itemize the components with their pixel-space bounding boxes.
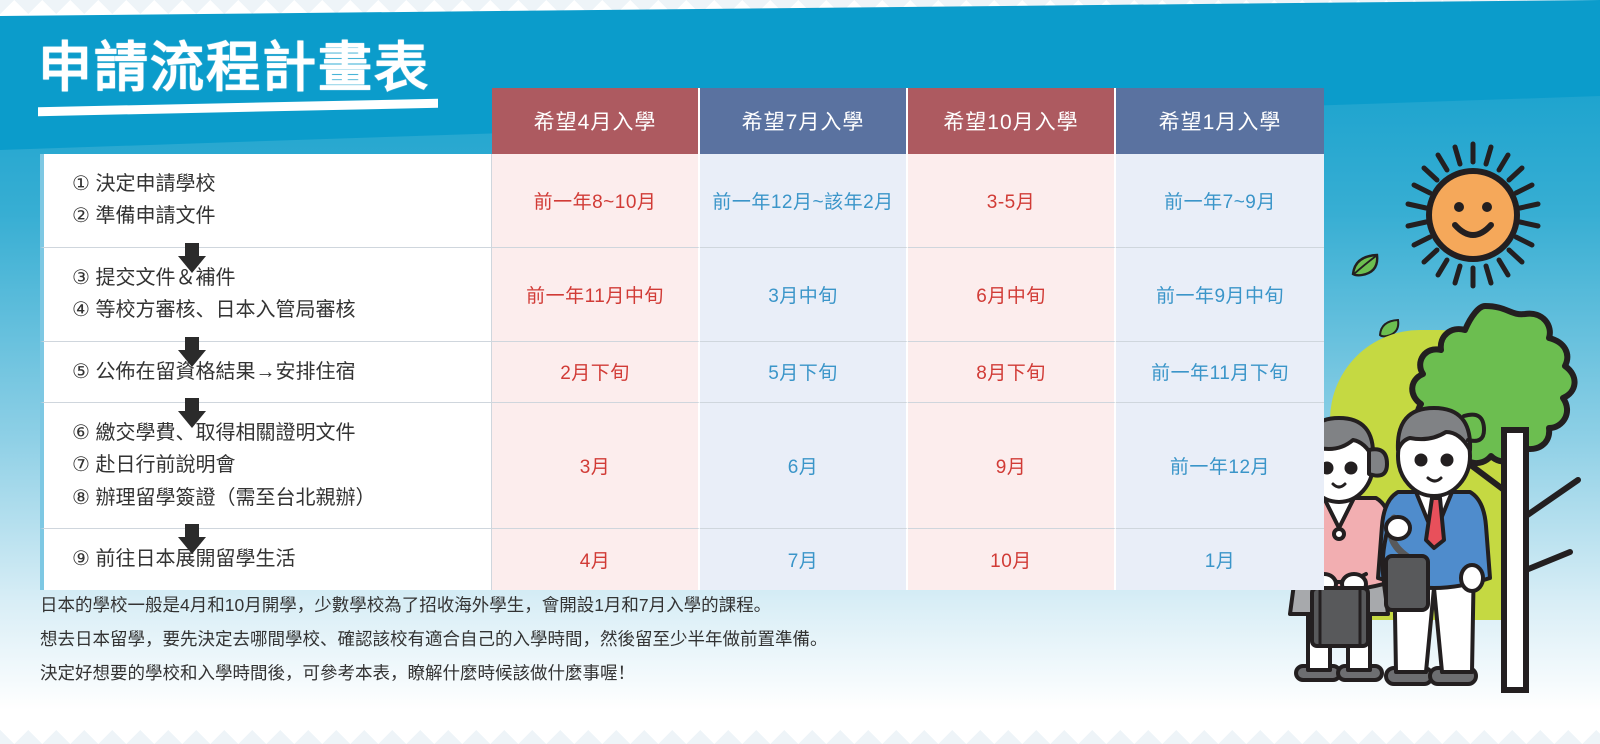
schedule-cell: 3-5月: [908, 154, 1116, 248]
schedule-cell: 前一年7~9月: [1116, 154, 1324, 248]
footnote-line-2: 想去日本留學，要先決定去哪間學校、確認該校有適合自己的入學時間，然後留至少半年做…: [40, 622, 1270, 656]
schedule-cell: 8月下旬: [908, 342, 1116, 403]
step-column-header: [40, 88, 492, 154]
column-header-october: 希望10月入學: [908, 88, 1116, 154]
schedule-cell: 9月: [908, 403, 1116, 529]
schedule-cell: 6月中旬: [908, 248, 1116, 342]
table-row: ⑤ 公佈在留資格結果→安排住宿 2月下旬 5月下旬 8月下旬 前一年11月下旬: [40, 342, 1324, 403]
footnote-block: 日本的學校一般是4月和10月開學，少數學校為了招收海外學生，會開設1月和7月入學…: [40, 588, 1270, 690]
schedule-cell: 5月下旬: [700, 342, 908, 403]
schedule-cell: 10月: [908, 529, 1116, 589]
schedule-cell: 6月: [700, 403, 908, 529]
schedule-cell: 前一年12月: [1116, 403, 1324, 529]
bottom-triangle-pattern: [0, 718, 1600, 744]
application-schedule-table: 希望4月入學 希望7月入學 希望10月入學 希望1月入學 ① 決定申請學校 ② …: [40, 88, 1324, 590]
step-cell: ③ 提交文件＆補件 ④ 等校方審核、日本入管局審核: [40, 248, 492, 342]
schedule-cell: 7月: [700, 529, 908, 589]
schedule-cell: 前一年9月中旬: [1116, 248, 1324, 342]
schedule-cell: 前一年12月~該年2月: [700, 154, 908, 248]
sun-icon: [1398, 140, 1548, 290]
step-cell: ⑤ 公佈在留資格結果→安排住宿: [40, 342, 492, 403]
schedule-cell: 4月: [492, 529, 700, 589]
column-header-july: 希望7月入學: [700, 88, 908, 154]
step-cell: ① 決定申請學校 ② 準備申請文件: [40, 154, 492, 248]
step-cell: ⑨ 前往日本展開留學生活: [40, 529, 492, 589]
column-header-january: 希望1月入學: [1116, 88, 1324, 154]
schedule-cell: 2月下旬: [492, 342, 700, 403]
leaf-icon: [1350, 252, 1380, 278]
column-header-april: 希望4月入學: [492, 88, 700, 154]
schedule-cell: 3月: [492, 403, 700, 529]
table-row: ③ 提交文件＆補件 ④ 等校方審核、日本入管局審核 前一年11月中旬 3月中旬 …: [40, 248, 1324, 342]
schedule-cell: 1月: [1116, 529, 1324, 589]
footnote-line-1: 日本的學校一般是4月和10月開學，少數學校為了招收海外學生，會開設1月和7月入學…: [40, 588, 1270, 622]
table-header-row: 希望4月入學 希望7月入學 希望10月入學 希望1月入學: [40, 88, 1324, 154]
footnote-line-3: 決定好想要的學校和入學時間後，可參考本表，瞭解什麼時候該做什麼事喔！: [40, 656, 1270, 690]
table-row: ⑨ 前往日本展開留學生活 4月 7月 10月 1月: [40, 529, 1324, 589]
schedule-cell: 前一年8~10月: [492, 154, 700, 248]
table-row: ① 決定申請學校 ② 準備申請文件 前一年8~10月 前一年12月~該年2月 3…: [40, 154, 1324, 248]
schedule-cell: 3月中旬: [700, 248, 908, 342]
schedule-cell: 前一年11月下旬: [1116, 342, 1324, 403]
poster-root: 申請流程計畫表 , 希望4月入學 希望7月入學 希望10月入學 希望1月入學 ①…: [0, 0, 1600, 744]
application-schedule-table-wrapper: 希望4月入學 希望7月入學 希望10月入學 希望1月入學 ① 決定申請學校 ② …: [40, 88, 1324, 590]
schedule-cell: 前一年11月中旬: [492, 248, 700, 342]
step-cell: ⑥ 繳交學費、取得相關證明文件 ⑦ 赴日行前說明會 ⑧ 辦理留學簽證（需至台北親…: [40, 403, 492, 529]
table-row: ⑥ 繳交學費、取得相關證明文件 ⑦ 赴日行前說明會 ⑧ 辦理留學簽證（需至台北親…: [40, 403, 1324, 529]
